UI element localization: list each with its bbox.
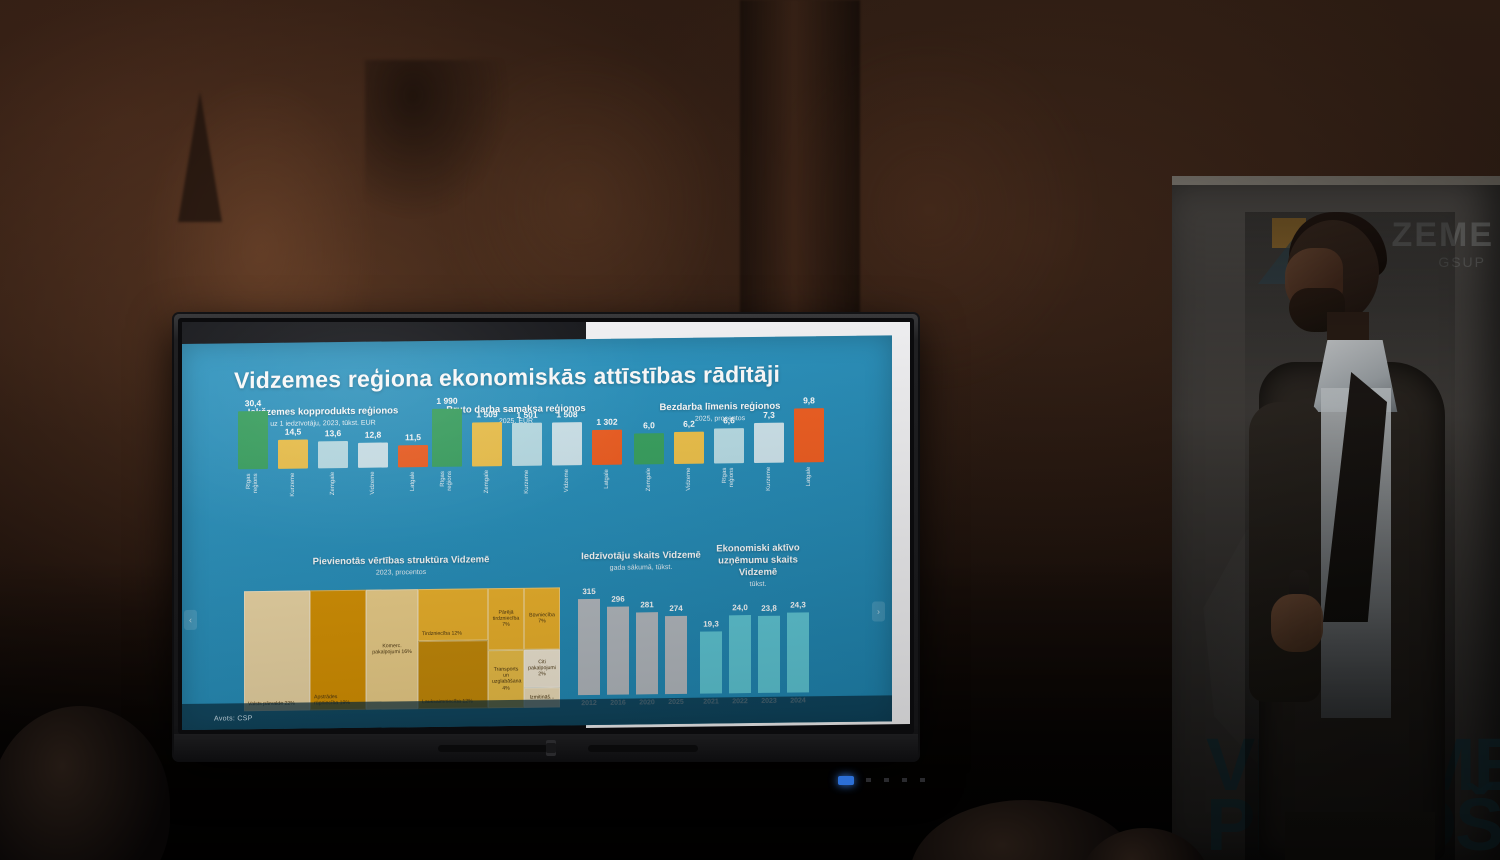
bar-rect [714,428,744,463]
mural-branch-shape [365,60,525,240]
bar-rect [358,442,388,467]
bar-item: 24,3 2024 [787,600,809,704]
bar-value: 30,4 [245,398,262,408]
bar-rect [636,612,658,694]
display-speaker-grille [588,745,698,752]
bar-value: 24,0 [732,603,748,612]
bar-category-label: Kurzeme [766,467,773,501]
bar-rect [398,445,428,467]
display-speaker-grille [438,745,548,752]
bar-item: 11,5 Latgale [398,432,428,505]
treemap-cell-label: Būvniecība 7% [528,612,556,625]
bar-item: 7,3 Kurzeme [754,410,784,501]
bar-category-label: Vidzeme [686,468,693,502]
treemap-cell-stack: Būvniecība 7% Citi pakalpojumi 2% Izmiti… [524,587,560,707]
bar-rect [318,441,348,468]
bar-category-label: Zemgale [330,472,337,506]
treemap-cell: Komerc. pakalpojumi 16% [366,589,418,710]
bar-item: 315 2012 [578,587,600,707]
treemap-cell-label: Transports un uzglabāšana 4% [492,666,520,691]
bar-category-label: Vidzeme [370,472,377,506]
bar-value: 11,5 [405,432,421,442]
bar-item: 13,6 Zemgale [318,428,348,506]
bar-item: 1 990 Rīgas reģions [432,396,462,505]
bar-rect [758,616,780,693]
treemap-valueadded: Valsts pārvalde 22% Apstrādes rūpniecība… [244,587,560,711]
chart-subtitle-population: gada sākumā, tūkst. [566,563,716,572]
bar-category-label: Rīgas reģions [722,467,736,501]
bar-rect [552,422,582,465]
treemap-cell: Lauksaimniecība 12% [418,640,488,709]
bar-rect [634,433,664,464]
bar-value: 7,3 [763,410,775,420]
bar-value: 12,8 [365,430,382,440]
bar-value: 19,3 [703,619,719,628]
bar-item: 12,8 Vidzeme [358,429,388,505]
bar-item: 30,4 Rīgas reģions [238,398,268,507]
presenter [1245,212,1455,860]
bar-category-label: Latgale [806,466,813,500]
bar-value: 6,6 [723,415,735,425]
bar-value: 281 [640,600,653,609]
bar-item: 24,0 2022 [729,603,751,705]
display-ir-sensor [546,740,556,756]
treemap-cell: Valsts pārvalde 22% [244,590,310,711]
bar-item: 1 508 Vidzeme [552,409,582,503]
bar-group-unemployment: 6,0 Zemgale 6,2 Vidzeme 6,6 Rīgas reģion… [634,444,824,502]
bar-category-label: Kurzeme [524,470,531,504]
bar-value: 1 990 [436,396,457,406]
bar-value: 14,5 [285,427,302,437]
bar-rect [700,631,722,693]
bar-group-population: 315 2012 296 2016 281 2020 274 2 [578,590,687,707]
bar-category-label: Kurzeme [290,473,297,507]
bar-rect [754,423,784,463]
bar-item: 19,3 2021 [700,619,722,705]
bar-value: 23,8 [761,604,777,613]
bar-category-label: Zemgale [484,470,491,504]
bar-item: 1 501 Kurzeme [512,410,542,504]
chart-panel-valueadded: Pievienotās vērtības struktūra Vidzemē 2… [244,553,558,578]
chart-title-population: Iedzīvotāju skaits Vidzemē [566,549,716,563]
treemap-cell-stack: Pārējā tirdzniecība 7% Transports un uzg… [488,588,524,708]
bar-value: 1 501 [516,410,537,420]
power-indicator-led [838,776,854,785]
bar-item: 23,8 2023 [758,604,780,705]
slide-next-button[interactable]: › [872,601,885,621]
bar-category-label: Rīgas reģions [246,473,260,507]
bar-item: 274 2025 [665,604,687,706]
treemap-cell-label: Komerc. pakalpojumi 16% [370,643,414,656]
bar-value: 296 [611,595,624,604]
bar-group-enterprises: 19,3 2021 24,0 2022 23,8 2023 24,3 [700,604,809,705]
mural-spire-shape [178,92,222,222]
bar-item: 281 2020 [636,600,658,706]
bar-rect [729,615,751,693]
treemap-cell: Apstrādes rūpniecība 19% [310,590,366,711]
bar-rect [278,439,308,468]
slide-title: Vidzemes reģiona ekonomiskās attīstības … [234,361,780,395]
bar-category-label: Latgale [410,471,417,505]
bar-value: 1 509 [476,409,497,419]
bar-rect [607,607,629,695]
bar-value: 1 302 [596,417,617,427]
slide-source-note: Avots: CSP [214,715,253,722]
bar-value: 6,0 [643,420,655,430]
treemap-cell: Tirdzniecība 12% [418,588,488,641]
chart-subtitle-enterprises: tūkst. [698,580,818,588]
chart-panel-enterprises: Ekonomiski aktīvo uzņēmumu skaits Vidzem… [698,542,818,588]
bar-category-label: Zemgale [646,468,653,502]
chart-subtitle-valueadded: 2023, procentos [244,567,558,578]
chart-title-unemployment: Bezdarba līmenis reģionos [626,400,814,414]
treemap-cell-label: Tirdzniecība 12% [422,630,484,637]
bar-value: 13,6 [325,428,342,438]
bar-group-gdp: 30,4 Rīgas reģions 14,5 Kurzeme 13,6 Zem… [238,443,428,507]
bar-item: 9,8 Latgale [794,395,824,500]
treemap-cell-label: Citi pakalpojumi 2% [528,659,556,678]
bar-group-wages: 1 990 Rīgas reģions 1 509 Zemgale 1 501 … [432,441,622,505]
bar-item: 1 509 Zemgale [472,409,502,504]
display-screen[interactable]: Vidzemes reģiona ekonomiskās attīstības … [182,322,910,730]
bar-category-label: Latgale [604,469,611,503]
chart-panel-population: Iedzīvotāju skaits Vidzemē gada sākumā, … [566,549,716,572]
bar-value: 6,2 [683,419,695,429]
bar-value: 315 [582,587,595,596]
presenter-shadow-overlay [1245,212,1455,860]
presentation-photo-scene: ZEME GSUP VIDZEMES PLĀNOŠANAS Vidzemes r… [0,0,1500,860]
bar-value: 1 508 [556,409,577,419]
bar-rect [472,422,502,466]
bar-item: 296 2016 [607,595,629,707]
bar-rect [512,423,542,466]
treemap-cell: Būvniecība 7% [524,587,560,649]
bar-rect [665,616,687,694]
chart-title-valueadded: Pievienotās vērtības struktūra Vidzemē [244,553,558,569]
bar-rect [578,599,600,695]
bar-item: 6,6 Rīgas reģions [714,415,744,501]
bar-category-label: Rīgas reģions [440,471,454,505]
slide-canvas: Vidzemes reģiona ekonomiskās attīstības … [182,335,892,730]
bar-rect [238,411,268,469]
bar-value: 9,8 [803,395,815,405]
bar-item: 6,0 Zemgale [634,420,664,502]
bar-category-label: Vidzeme [564,469,571,503]
bar-rect [787,612,809,692]
display-stand-fixings [866,778,926,782]
treemap-cell-label: Pārējā tirdzniecība 7% [492,610,520,629]
slide-prev-button[interactable]: ‹ [184,610,197,630]
bar-rect [432,409,462,467]
chart-title-enterprises: Ekonomiski aktīvo uzņēmumu skaits Vidzem… [698,542,818,579]
bar-value: 274 [669,604,682,613]
bar-item: 1 302 Latgale [592,417,622,503]
bar-rect [592,430,622,465]
treemap-cell: Pārējā tirdzniecība 7% [488,588,524,650]
bar-item: 6,2 Vidzeme [674,419,704,502]
bar-item: 14,5 Kurzeme [278,426,308,506]
bar-rect [674,432,704,464]
treemap-cell: Citi pakalpojumi 2% [524,649,560,687]
bar-rect [794,408,824,462]
bar-value: 24,3 [790,600,806,609]
treemap-cell-stack: Tirdzniecība 12% Lauksaimniecība 12% [418,588,488,709]
